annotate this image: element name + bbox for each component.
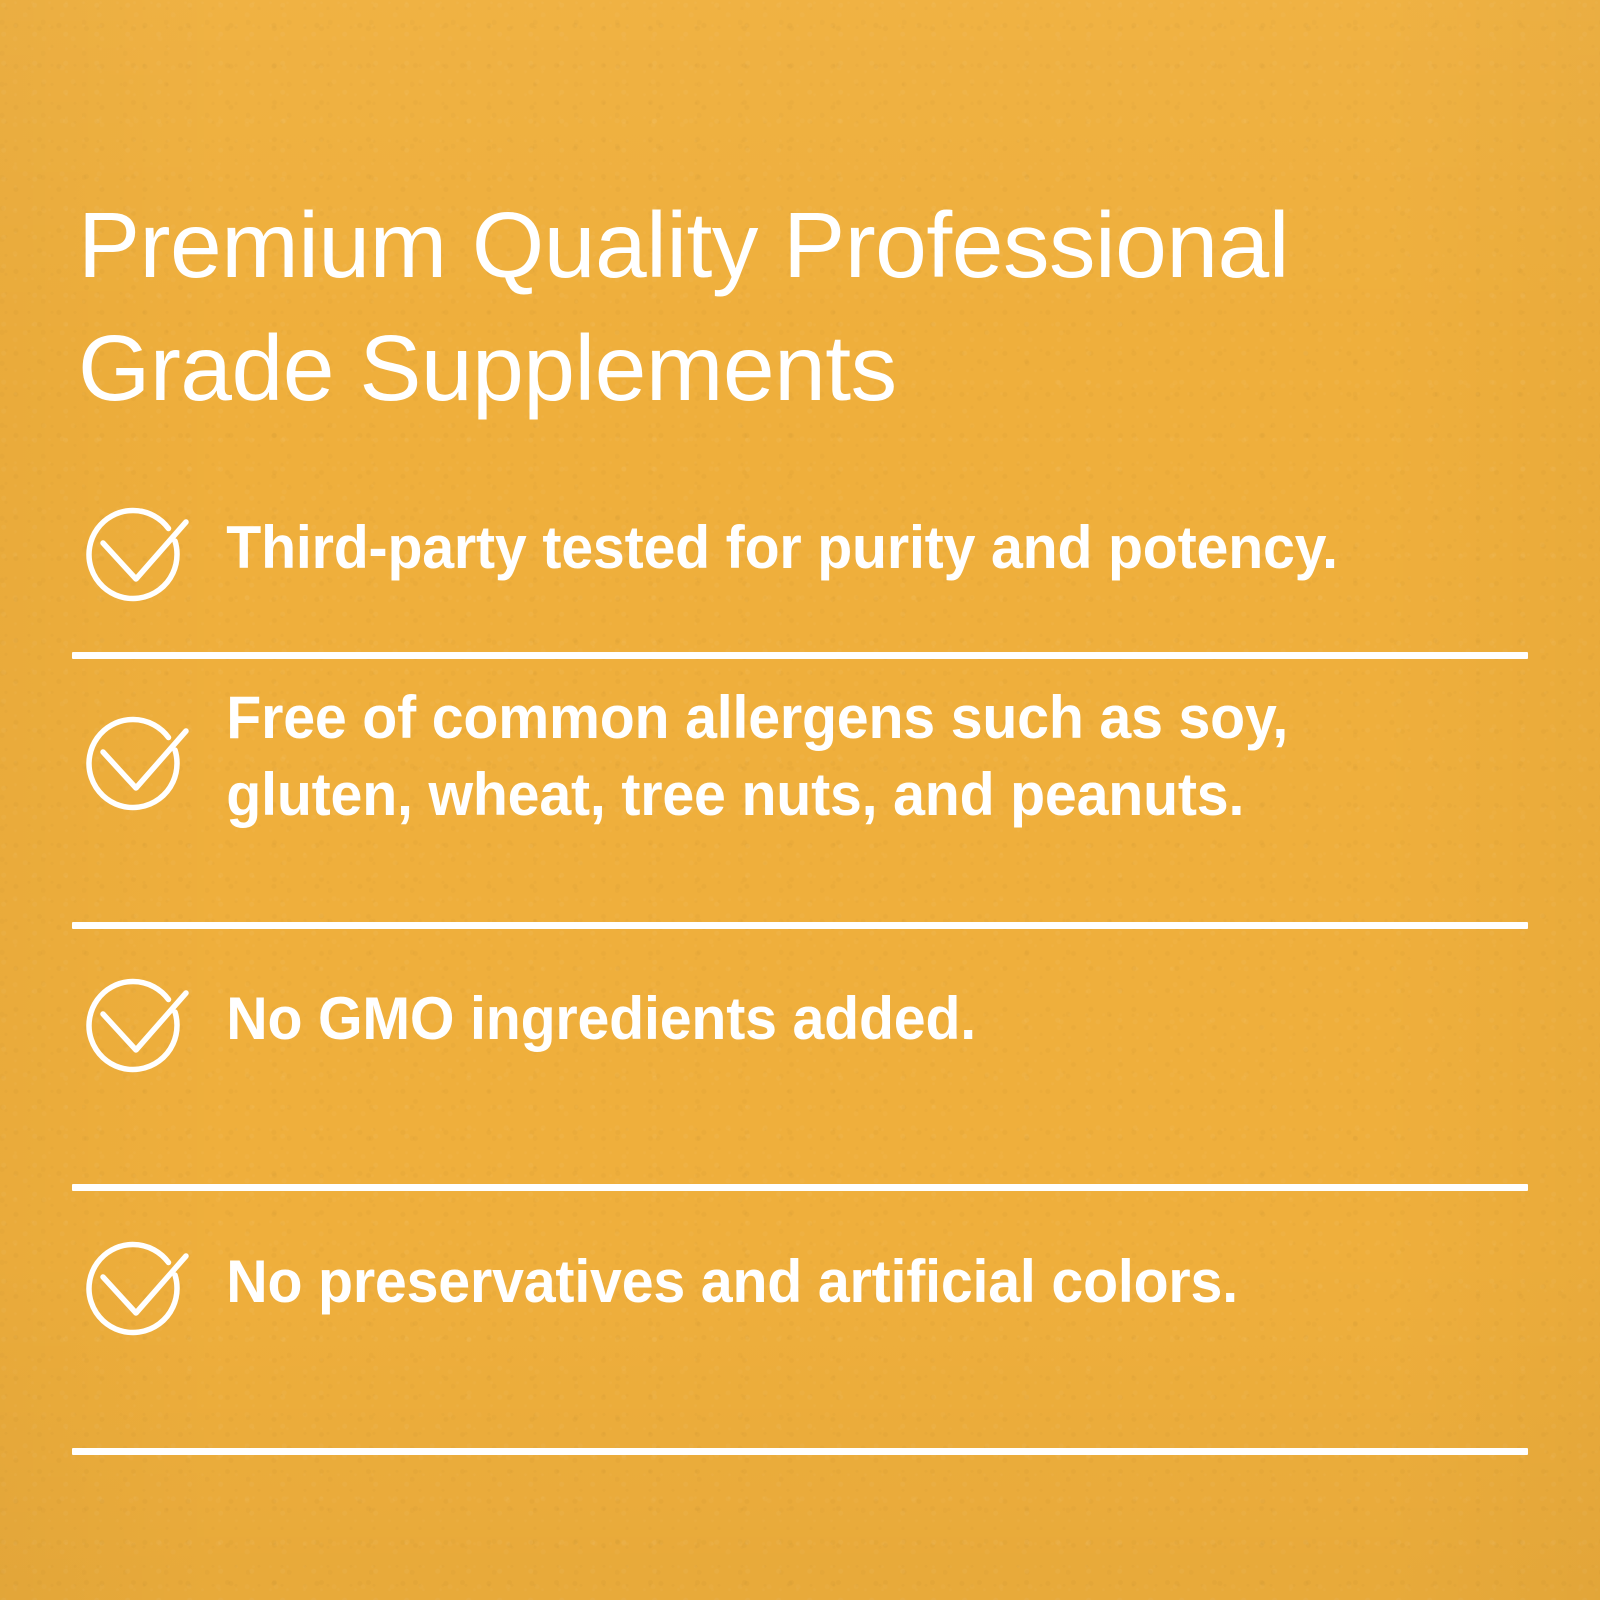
list-item-label: Free of common allergens such as soy, gl… (190, 680, 1468, 834)
list-item-label: No GMO ingredients added. (190, 981, 1468, 1058)
list-item: Free of common allergens such as soy, gl… (0, 626, 1600, 888)
divider (72, 652, 1528, 659)
infographic-card: Premium Quality Professional Grade Suppl… (0, 0, 1600, 1600)
divider (72, 1184, 1528, 1191)
divider (72, 922, 1528, 929)
page-title: Premium Quality Professional Grade Suppl… (78, 184, 1418, 430)
check-circle-icon (82, 1230, 190, 1334)
check-circle-icon (82, 705, 190, 809)
divider (72, 1448, 1528, 1455)
feature-list: Third-party tested for purity and potenc… (0, 470, 1600, 1414)
list-item-label: Third-party tested for purity and potenc… (190, 510, 1468, 587)
list-item-label: No preservatives and artificial colors. (190, 1244, 1468, 1321)
check-circle-icon (82, 967, 190, 1071)
list-item: Third-party tested for purity and potenc… (0, 470, 1600, 626)
check-circle-icon (82, 496, 190, 600)
